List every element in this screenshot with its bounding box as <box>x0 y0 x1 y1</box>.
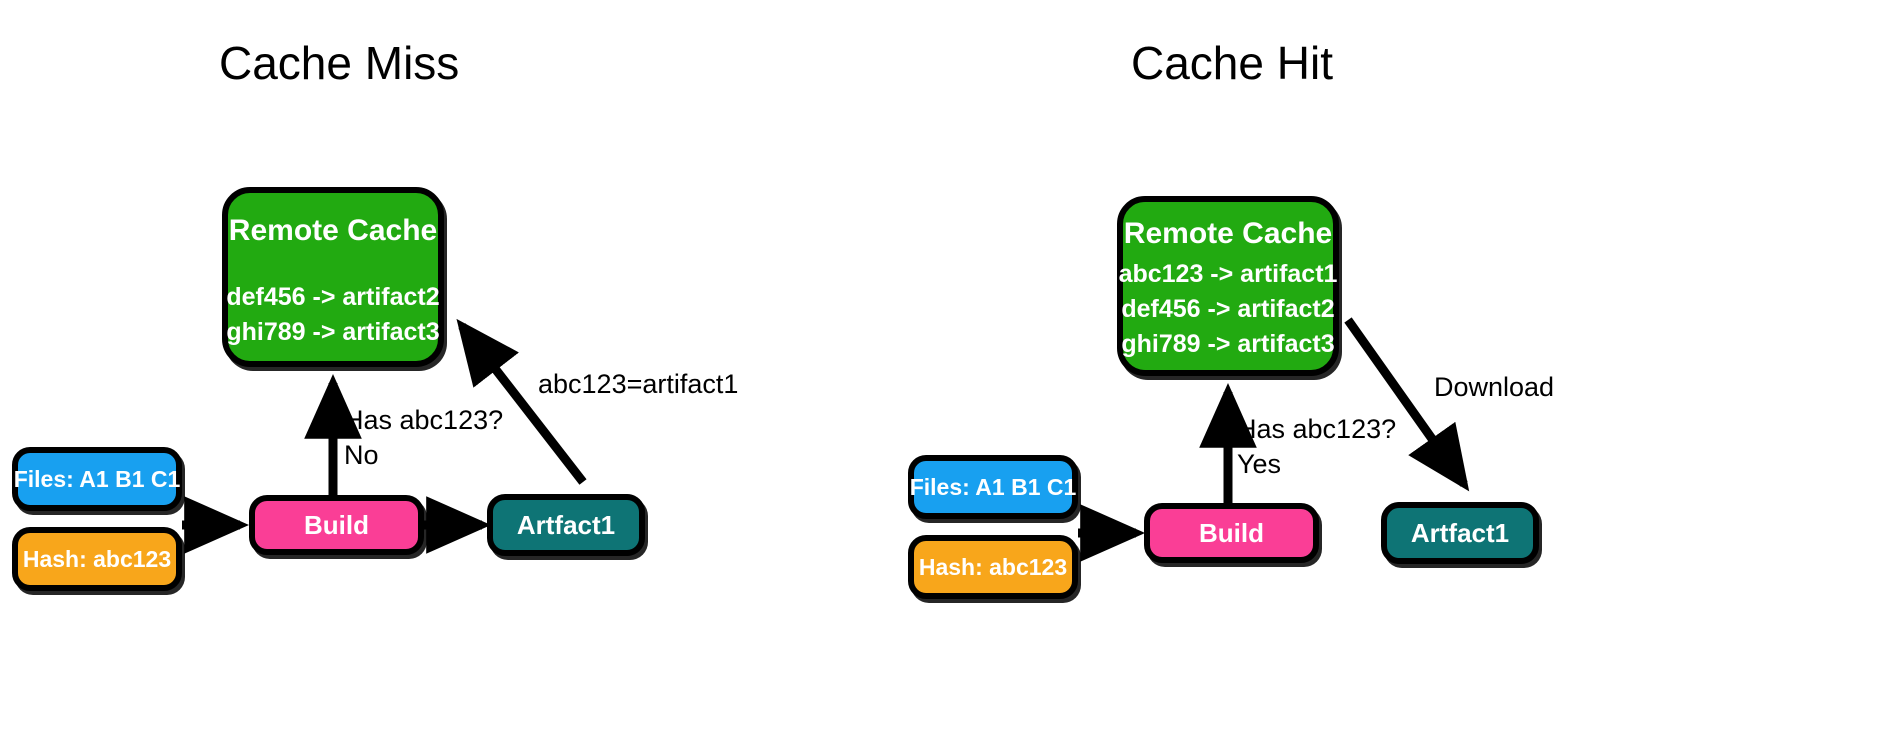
node-hash-label-left: Hash: abc123 <box>23 546 171 573</box>
node-build-right[interactable]: Build <box>1144 503 1319 563</box>
edge-label-upload-left: abc123=artifact1 <box>538 367 738 402</box>
diagram-arrows <box>0 0 1894 746</box>
node-artifact-label-right: Artfact1 <box>1411 518 1509 549</box>
panel-title-cache-hit: Cache Hit <box>1131 36 1333 90</box>
cache-entry: def456 -> artifact2 <box>1121 293 1334 326</box>
node-remote-cache-left[interactable]: Remote Cache def456 -> artifact2 ghi789 … <box>222 187 444 367</box>
node-files-right[interactable]: Files: A1 B1 C1 <box>908 455 1078 519</box>
cache-entry: def456 -> artifact2 <box>226 281 439 314</box>
node-build-label-right: Build <box>1199 518 1264 549</box>
remote-cache-entries-right: abc123 -> artifact1 def456 -> artifact2 … <box>1119 258 1338 361</box>
node-hash-label-right: Hash: abc123 <box>919 554 1067 581</box>
remote-cache-title-left: Remote Cache <box>229 213 437 249</box>
remote-cache-entries-left: def456 -> artifact2 ghi789 -> artifact3 <box>226 281 439 349</box>
cache-entry: ghi789 -> artifact3 <box>1121 328 1334 361</box>
node-build-left[interactable]: Build <box>249 495 424 555</box>
cache-entry: abc123 -> artifact1 <box>1119 258 1338 291</box>
remote-cache-title-right: Remote Cache <box>1124 216 1332 252</box>
node-files-left[interactable]: Files: A1 B1 C1 <box>12 447 182 511</box>
edge-label-query-left: Has abc123? No <box>344 403 503 472</box>
panel-title-cache-miss: Cache Miss <box>219 36 459 90</box>
node-files-label-right: Files: A1 B1 C1 <box>910 474 1077 501</box>
node-build-label-left: Build <box>304 510 369 541</box>
node-hash-right[interactable]: Hash: abc123 <box>908 535 1078 599</box>
node-artifact-left[interactable]: Artfact1 <box>487 494 645 556</box>
edge-label-download-right: Download <box>1434 370 1554 405</box>
node-artifact-label-left: Artfact1 <box>517 510 615 541</box>
cache-entry: ghi789 -> artifact3 <box>226 316 439 349</box>
node-hash-left[interactable]: Hash: abc123 <box>12 527 182 591</box>
node-files-label-left: Files: A1 B1 C1 <box>14 466 181 493</box>
edge-label-query-right: Has abc123? Yes <box>1237 412 1396 481</box>
node-artifact-right[interactable]: Artfact1 <box>1381 502 1539 564</box>
diagram-canvas: Cache Miss Remote Cache def456 -> artifa… <box>0 0 1894 746</box>
node-remote-cache-right[interactable]: Remote Cache abc123 -> artifact1 def456 … <box>1117 196 1339 376</box>
